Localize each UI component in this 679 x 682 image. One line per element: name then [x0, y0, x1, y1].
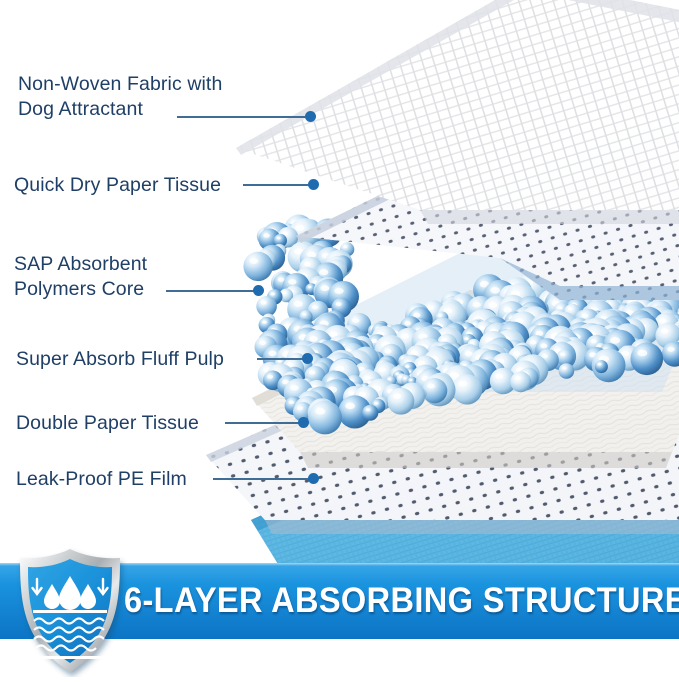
leader-line-super-absorb-fluff-pulp — [257, 358, 307, 360]
banner-title: 6-LAYER ABSORBING STRUCTURE — [124, 563, 637, 639]
label-line: Quick Dry Paper Tissue — [14, 173, 221, 198]
leader-dot-leak-proof-pe-film — [308, 473, 319, 484]
label-sap-absorbent-polymers-core: SAP AbsorbentPolymers Core — [14, 252, 147, 302]
label-super-absorb-fluff-pulp: Super Absorb Fluff Pulp — [16, 347, 224, 372]
label-line: Super Absorb Fluff Pulp — [16, 347, 224, 372]
leader-dot-quick-dry-paper-tissue — [308, 179, 319, 190]
label-line: Polymers Core — [14, 277, 147, 302]
leader-dot-non-woven-fabric — [305, 111, 316, 122]
leader-line-double-paper-tissue — [225, 422, 303, 424]
surface-line — [33, 610, 107, 613]
leader-dot-sap-absorbent-polymers-core — [253, 285, 264, 296]
label-quick-dry-paper-tissue: Quick Dry Paper Tissue — [14, 173, 221, 198]
layer-non-woven-fabric — [236, 0, 679, 224]
leader-line-sap-absorbent-polymers-core — [166, 290, 258, 292]
leader-line-leak-proof-pe-film — [213, 478, 313, 480]
waterproof-shield-badge — [12, 546, 128, 677]
base-line — [33, 656, 107, 659]
label-line: Double Paper Tissue — [16, 411, 199, 436]
label-leak-proof-pe-film: Leak-Proof PE Film — [16, 467, 187, 492]
label-line: Leak-Proof PE Film — [16, 467, 187, 492]
leader-line-non-woven-fabric — [177, 116, 309, 118]
label-line: Non-Woven Fabric with — [18, 72, 222, 97]
label-line: SAP Absorbent — [14, 252, 147, 277]
infographic-canvas: Non-Woven Fabric withDog AttractantQuick… — [0, 0, 679, 677]
leader-dot-double-paper-tissue — [298, 417, 309, 428]
leader-line-quick-dry-paper-tissue — [243, 184, 313, 186]
leader-dot-super-absorb-fluff-pulp — [302, 353, 313, 364]
label-non-woven-fabric: Non-Woven Fabric withDog Attractant — [18, 72, 222, 122]
label-double-paper-tissue: Double Paper Tissue — [16, 411, 199, 436]
label-line: Dog Attractant — [18, 97, 222, 122]
